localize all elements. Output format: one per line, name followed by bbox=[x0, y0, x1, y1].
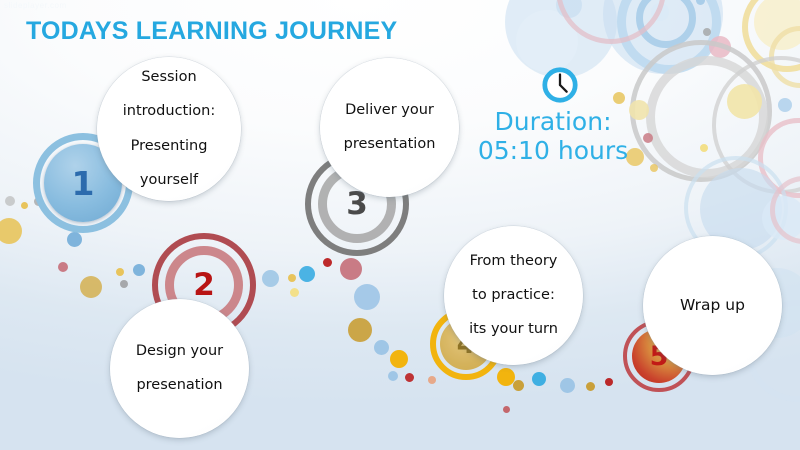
decor-bubble bbox=[21, 202, 28, 209]
path-dot bbox=[586, 382, 595, 391]
path-dot bbox=[405, 373, 414, 382]
decor-bubble bbox=[703, 28, 711, 36]
watermark: slideplayer.com bbox=[4, 1, 67, 10]
path-dot bbox=[116, 268, 124, 276]
decor-bubble bbox=[778, 98, 792, 112]
path-dot bbox=[133, 264, 145, 276]
path-dot bbox=[348, 318, 372, 342]
path-dot bbox=[58, 262, 68, 272]
step-bubble-5-text: Wrap up bbox=[664, 296, 761, 314]
path-dot bbox=[0, 218, 22, 244]
decor-bubble bbox=[700, 144, 708, 152]
path-dot bbox=[80, 276, 102, 298]
step-number-3: 3 bbox=[346, 189, 368, 220]
step-number-1: 1 bbox=[72, 167, 95, 200]
path-dot bbox=[262, 270, 279, 287]
step-bubble-3-text: Deliver your presentation bbox=[328, 102, 452, 153]
step-bubble-2[interactable]: Design your presenation bbox=[110, 299, 249, 438]
step-bubble-1[interactable]: Session introduction: Presenting yoursel… bbox=[97, 57, 241, 201]
step-bubble-2-text: Design your presenation bbox=[120, 343, 239, 394]
path-dot bbox=[513, 380, 524, 391]
path-dot bbox=[290, 288, 299, 297]
path-dot bbox=[532, 372, 546, 386]
duration-block: Duration: 05:10 hours bbox=[460, 66, 660, 166]
path-dot bbox=[323, 258, 332, 267]
path-dot bbox=[374, 340, 389, 355]
step-bubble-5[interactable]: Wrap up bbox=[643, 236, 782, 375]
path-dot bbox=[354, 284, 380, 310]
path-dot bbox=[288, 274, 296, 282]
path-dot bbox=[503, 406, 510, 413]
step-bubble-4-text: From theory to practice: its your turn bbox=[453, 253, 574, 339]
page-title: TODAYS LEARNING JOURNEY bbox=[26, 17, 397, 46]
path-dot bbox=[388, 371, 398, 381]
path-dot bbox=[299, 266, 315, 282]
path-dot bbox=[120, 280, 128, 288]
step-bubble-1-text: Session introduction: Presenting yoursel… bbox=[107, 69, 231, 189]
duration-label: Duration: bbox=[446, 108, 660, 137]
step-number-2: 2 bbox=[193, 270, 215, 301]
path-dot bbox=[560, 378, 575, 393]
path-dot bbox=[67, 232, 82, 247]
clock-icon bbox=[541, 66, 579, 104]
duration-value: 05:10 hours bbox=[446, 137, 660, 166]
path-dot bbox=[390, 350, 408, 368]
path-dot bbox=[428, 376, 436, 384]
step-bubble-4[interactable]: From theory to practice: its your turn bbox=[444, 226, 583, 365]
slide-canvas: slideplayer.com TODAYS LEARNING JOURNEY … bbox=[0, 0, 800, 450]
path-dot bbox=[605, 378, 613, 386]
step-bubble-3[interactable]: Deliver your presentation bbox=[320, 58, 459, 197]
path-dot bbox=[340, 258, 362, 280]
decor-bubble bbox=[5, 196, 15, 206]
